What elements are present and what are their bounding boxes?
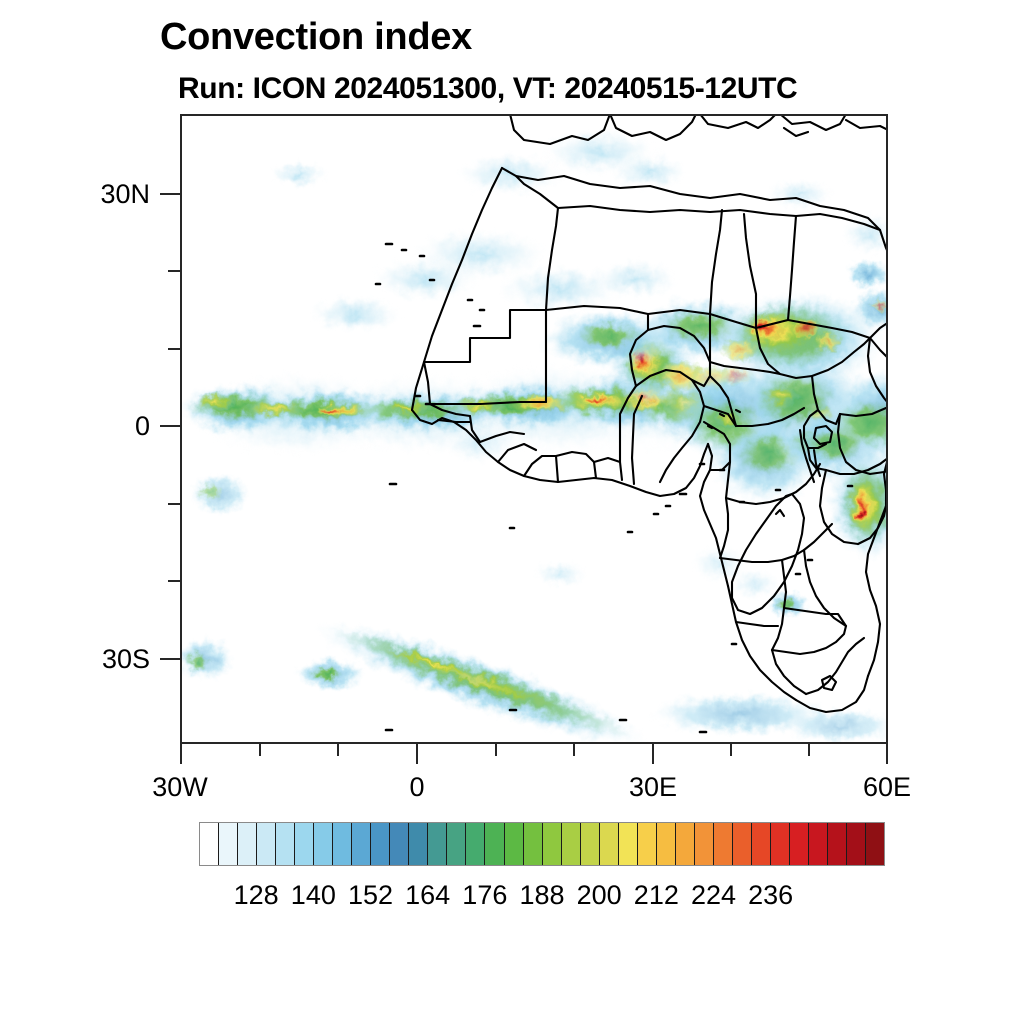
colorbar-bin-27 (714, 823, 733, 865)
colorbar-bin-28 (733, 823, 752, 865)
colorbar-bin-31 (790, 823, 809, 865)
y-tick-major-30s (160, 658, 180, 660)
colorbar-bin-18 (543, 823, 562, 865)
x-tick-minor-20w (259, 744, 261, 756)
colorbar-bin-14 (466, 823, 485, 865)
colorbar-bin-22 (619, 823, 638, 865)
y-tick-minor-10n (168, 348, 180, 350)
colorbar-bin-15 (485, 823, 504, 865)
colorbar-bin-16 (505, 823, 524, 865)
colorbar-bin-21 (600, 823, 619, 865)
y-tick-minor-20n (168, 270, 180, 272)
colorbar-bin-26 (695, 823, 714, 865)
colorbar-bin-29 (752, 823, 771, 865)
x-tick-major-0 (416, 744, 418, 764)
x-tick-minor-10w (337, 744, 339, 756)
x-axis-label-0: 0 (355, 772, 479, 803)
y-axis-label-30n: 30N (40, 179, 150, 210)
colorbar-bin-5 (295, 823, 314, 865)
colorbar-bin-0 (200, 823, 219, 865)
colorbar-bin-30 (771, 823, 790, 865)
colorbar-bin-24 (657, 823, 676, 865)
colorbar-bin-3 (257, 823, 276, 865)
colorbar-bin-8 (352, 823, 371, 865)
y-tick-major-0 (160, 425, 180, 427)
x-tick-minor-50e (808, 744, 810, 756)
x-tick-minor-20e (573, 744, 575, 756)
x-tick-major-60e (886, 744, 888, 764)
y-axis-label-30s: 30S (40, 644, 150, 675)
y-tick-minor-10s (168, 503, 180, 505)
y-tick-minor-20s (168, 580, 180, 582)
colorbar-bin-34 (847, 823, 866, 865)
colorbar-bin-1 (219, 823, 238, 865)
colorbar-bin-13 (447, 823, 466, 865)
colorbar-bin-12 (428, 823, 447, 865)
colorbar-bin-4 (276, 823, 295, 865)
colorbar-bin-2 (238, 823, 257, 865)
y-tick-major-30n (160, 193, 180, 195)
colorbar-bin-11 (409, 823, 428, 865)
colorbar-bin-33 (828, 823, 847, 865)
x-axis-label-30w: 30W (118, 772, 242, 803)
colorbar (199, 822, 885, 866)
x-axis-label-30e: 30E (591, 772, 715, 803)
colorbar-bin-23 (638, 823, 657, 865)
y-axis-label-0: 0 (40, 411, 150, 442)
map-plot-area (180, 114, 888, 744)
colorbar-bin-25 (676, 823, 695, 865)
colorbar-bin-19 (562, 823, 581, 865)
page-title: Convection index (160, 16, 472, 59)
figure-canvas: Convection index Run: ICON 2024051300, V… (0, 0, 1024, 1024)
colorbar-bin-10 (390, 823, 409, 865)
x-tick-major-30e (652, 744, 654, 764)
colorbar-tick-236: 236 (731, 880, 811, 911)
colorbar-bin-7 (333, 823, 352, 865)
colorbar-bin-20 (581, 823, 600, 865)
x-tick-minor-40e (730, 744, 732, 756)
colorbar-bin-17 (524, 823, 543, 865)
x-axis-label-60e: 60E (825, 772, 949, 803)
colorbar-bin-9 (371, 823, 390, 865)
colorbar-bin-6 (314, 823, 333, 865)
run-subtitle: Run: ICON 2024051300, VT: 20240515-12UTC (178, 72, 797, 106)
x-tick-minor-10e (495, 744, 497, 756)
colorbar-bin-35 (866, 823, 884, 865)
x-tick-major-30w (180, 744, 182, 764)
colorbar-bin-32 (809, 823, 828, 865)
